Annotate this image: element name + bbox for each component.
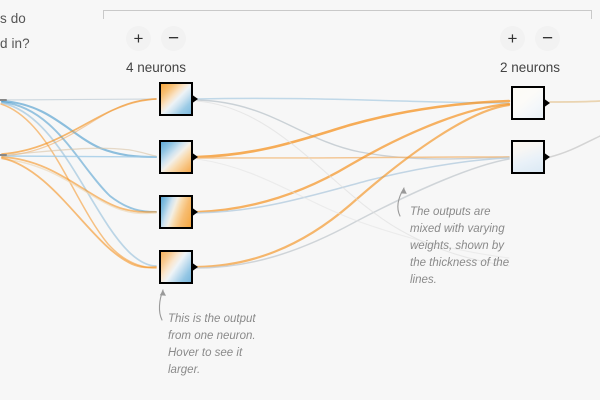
neuron-node-h2-n2[interactable] — [511, 140, 545, 174]
layer-1-neuron-count-label: 4 neurons — [116, 60, 196, 75]
neuron-node-h1-n4[interactable] — [159, 250, 193, 284]
hidden-layer-2-controls: + − 2 neurons — [490, 26, 570, 75]
layer-2-button-row: + − — [490, 26, 570, 51]
neuron-node-h1-n1[interactable] — [159, 82, 193, 116]
sidebar-question-line-2: d in? — [0, 31, 96, 56]
neuron-output-connector-icon — [543, 152, 550, 162]
layer-2-neuron-count-label: 2 neurons — [490, 60, 570, 75]
neuron-output-connector-icon — [191, 94, 198, 104]
neuron-node-h1-n2[interactable] — [159, 140, 193, 174]
weights-callout: The outputs are mixed with varying weigh… — [410, 204, 522, 289]
neuron-node-h2-n1[interactable] — [511, 86, 545, 120]
neuron-output-connector-icon — [191, 152, 198, 162]
remove-neuron-button-layer-2[interactable]: − — [535, 26, 560, 51]
neuron-activation-heatmap — [161, 197, 191, 227]
neuron-activation-heatmap — [161, 142, 191, 172]
add-neuron-button-layer-1[interactable]: + — [126, 26, 151, 51]
sidebar-question-text: s do d in? — [0, 6, 96, 56]
remove-neuron-button-layer-1[interactable]: − — [161, 26, 186, 51]
hidden-layer-1-controls: + − 4 neurons — [116, 26, 196, 75]
neuron-activation-heatmap — [161, 252, 191, 282]
network-canvas: s do d in? — [0, 0, 600, 400]
layer-1-button-row: + − — [116, 26, 196, 51]
sidebar-question-line-1: s do — [0, 6, 96, 31]
neuron-output-connector-icon — [191, 207, 198, 217]
neuron-output-connector-icon — [543, 98, 550, 108]
add-neuron-button-layer-2[interactable]: + — [500, 26, 525, 51]
neuron-output-connector-icon — [191, 262, 198, 272]
neuron-output-callout: This is the output from one neuron. Hove… — [168, 311, 272, 379]
hidden-layers-bracket — [103, 10, 592, 19]
neuron-activation-heatmap — [161, 84, 191, 114]
neuron-activation-heatmap — [513, 142, 543, 172]
neuron-node-h1-n3[interactable] — [159, 195, 193, 229]
neuron-activation-heatmap — [513, 88, 543, 118]
